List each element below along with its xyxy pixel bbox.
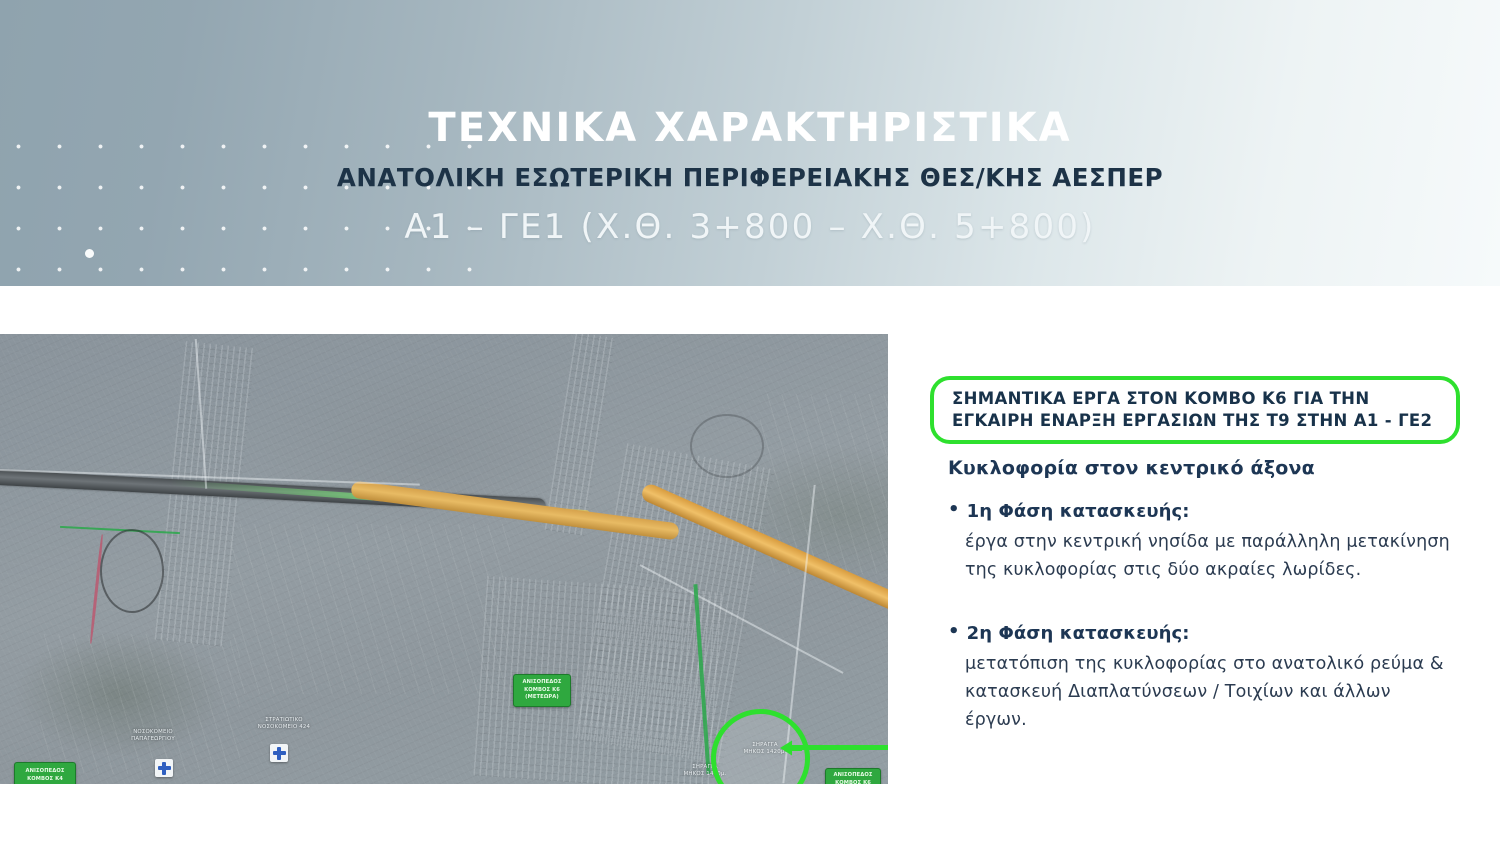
urban-texture (473, 576, 726, 784)
callout-line-2: ΕΓΚΑΙΡΗ ΕΝΑΡΞΗ ΕΡΓΑΣΙΩΝ ΤΗΣ Τ9 ΣΤΗΝ Α1 -… (952, 410, 1438, 432)
map-label-k6-right: ΑΝΙΣΟΠΕΔΟΣ ΚΟΜΒΟΣ Κ6 (ΜΕΤΕΩΡΑ) (825, 768, 881, 784)
hospital-icon-424 (270, 744, 288, 762)
field-texture (40, 634, 240, 774)
phase-title-text: 2η Φάση κατασκευής: (967, 623, 1190, 644)
page-subtitle: ΑΝΑΤΟΛΙΚΗ ΕΣΩΤΕΡΙΚΗ ΠΕΡΙΦΕΡΕΙΑΚΗΣ ΘΕΣ/ΚΗ… (337, 163, 1163, 192)
phase-body-line: μετατόπιση της κυκλοφορίας στο ανατολικό… (948, 650, 1468, 678)
map-label-k4: ΑΝΙΣΟΠΕΔΟΣ ΚΟΜΒΟΣ Κ4 (14, 762, 76, 784)
callout-box: ΣΗΜΑΝΤΙΚΑ ΕΡΓΑ ΣΤΟΝ ΚΟΜΒΟ Κ6 ΓΙΑ ΤΗΝ ΕΓΚ… (930, 376, 1460, 444)
content-column: Κυκλοφορία στον κεντρικό άξονα • 1η Φάση… (948, 457, 1468, 757)
callout-connector-line (800, 745, 888, 750)
phase-body-line: έργα στην κεντρική νησίδα με παράλληλη μ… (948, 528, 1468, 556)
bullet-icon: • (948, 623, 960, 641)
phase-body-line: κατασκευή Διαπλατύνσεων / Τοιχίων και άλ… (948, 678, 1468, 706)
slide: ΤΕΧΝΙΚΑ ΧΑΡΑΚΤΗΡΙΣΤΙΚΑ ΑΝΑΤΟΛΙΚΗ ΕΣΩΤΕΡΙ… (0, 0, 1500, 844)
phase-body-line: της κυκλοφορίας στις δύο ακραίες λωρίδες… (948, 556, 1468, 584)
phase-title-2: • 2η Φάση κατασκευής: (948, 623, 1468, 644)
bullet-icon: • (948, 501, 960, 519)
arrow-left-icon (778, 739, 802, 757)
phase-body-line: έργων. (948, 706, 1468, 734)
phase-title-text: 1η Φάση κατασκευής: (967, 501, 1190, 522)
header-band: ΤΕΧΝΙΚΑ ΧΑΡΑΚΤΗΡΙΣΤΙΚΑ ΑΝΑΤΟΛΙΚΗ ΕΣΩΤΕΡΙ… (0, 0, 1500, 286)
section-heading: Κυκλοφορία στον κεντρικό άξονα (948, 457, 1468, 479)
cross-icon (158, 762, 171, 775)
phase-block-1: • 1η Φάση κατασκευής: έργα στην κεντρική… (948, 501, 1468, 585)
aerial-map-image: ΝΟΣΟΚΟΜΕΙΟ ΠΑΠΑΓΕΩΡΓΙΟΥ ΣΤΡΑΤΙΩΤΙΚΟ ΝΟΣΟ… (0, 334, 888, 784)
map-label-k6-top: ΑΝΙΣΟΠΕΔΟΣ ΚΟΜΒΟΣ Κ6 (ΜΕΤΕΩΡΑ) (513, 674, 571, 707)
hospital-icon-papageorgiou (155, 759, 173, 777)
page-section-range: Α1 – ΓΕ1 (Χ.Θ. 3+800 – Χ.Θ. 5+800) (404, 207, 1095, 247)
page-title: ΤΕΧΝΙΚΑ ΧΑΡΑΚΤΗΡΙΣΤΙΚΑ (428, 107, 1071, 149)
phase-title-1: • 1η Φάση κατασκευής: (948, 501, 1468, 522)
cross-icon (273, 747, 286, 760)
spacer (948, 607, 1468, 623)
phase-block-2: • 2η Φάση κατασκευής: μετατόπιση της κυκ… (948, 623, 1468, 735)
interchange-loop (100, 529, 164, 613)
callout-line-1: ΣΗΜΑΝΤΙΚΑ ΕΡΓΑ ΣΤΟΝ ΚΟΜΒΟ Κ6 ΓΙΑ ΤΗΝ (952, 388, 1438, 410)
field-texture (230, 524, 510, 694)
interchange-loop (690, 414, 764, 478)
